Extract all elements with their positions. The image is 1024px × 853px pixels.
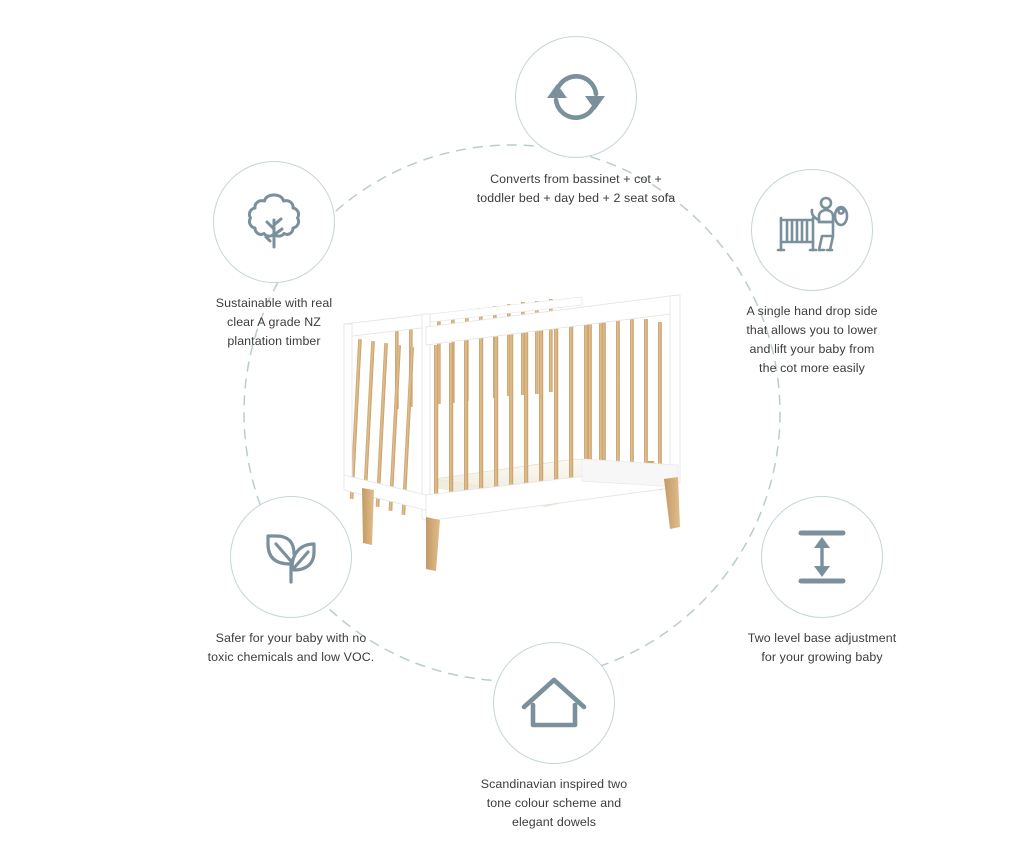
feature-sustainable[interactable]: Sustainable with real clear A grade NZ p… bbox=[186, 161, 362, 351]
feature-baseadjust[interactable]: Two level base adjustment for your growi… bbox=[724, 496, 920, 667]
feature-converts-label: Converts from bassinet + cot + toddler b… bbox=[451, 170, 701, 208]
vertical-double-arrow-icon bbox=[787, 522, 857, 592]
feature-converts[interactable]: Converts from bassinet + cot + toddler b… bbox=[451, 36, 701, 208]
feature-sustainable-bubble[interactable] bbox=[213, 161, 335, 283]
feature-baseadjust-label: Two level base adjustment for your growi… bbox=[724, 629, 920, 667]
tree-icon bbox=[237, 185, 311, 259]
sprout-leaves-icon bbox=[254, 520, 328, 594]
feature-nontoxic-bubble[interactable] bbox=[230, 496, 352, 618]
feature-scandi-bubble[interactable] bbox=[493, 642, 615, 764]
feature-dropside[interactable]: A single hand drop side that allows you … bbox=[724, 169, 900, 378]
product-photo: White cot with natural timber dowels sho… bbox=[330, 283, 692, 575]
feature-dropside-bubble[interactable] bbox=[751, 169, 873, 291]
feature-scandi-label: Scandinavian inspired two tone colour sc… bbox=[456, 775, 652, 832]
house-outline-icon bbox=[518, 667, 590, 739]
feature-scandi[interactable]: Scandinavian inspired two tone colour sc… bbox=[456, 642, 652, 832]
feature-baseadjust-bubble[interactable] bbox=[761, 496, 883, 618]
feature-sustainable-label: Sustainable with real clear A grade NZ p… bbox=[186, 294, 362, 351]
feature-converts-bubble[interactable] bbox=[515, 36, 637, 158]
feature-nontoxic-label: Safer for your baby with no toxic chemic… bbox=[186, 629, 396, 667]
feature-dropside-label: A single hand drop side that allows you … bbox=[724, 302, 900, 378]
cot-with-parent-icon bbox=[774, 192, 850, 268]
infographic-canvas: White cot with natural timber dowels sho… bbox=[0, 0, 1024, 853]
convert-arrows-icon bbox=[541, 62, 611, 132]
